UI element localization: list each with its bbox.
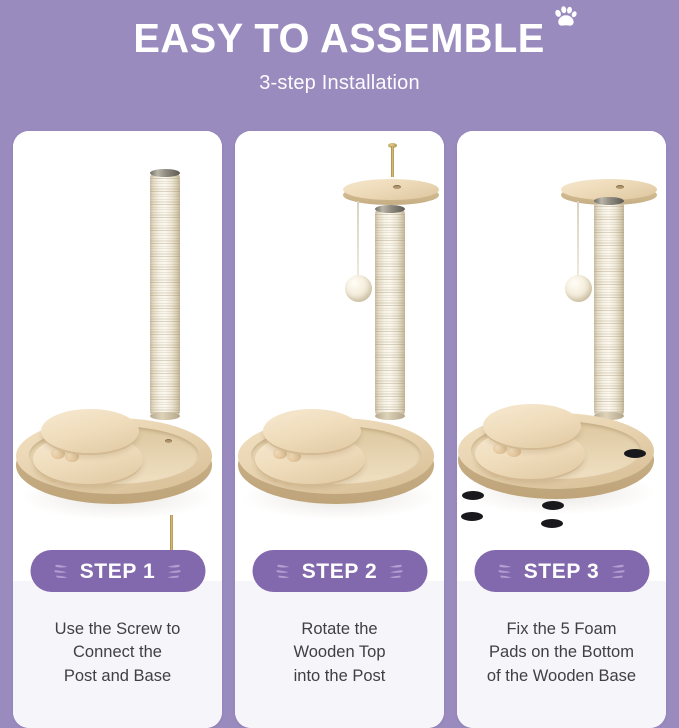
top-disc-screw-hole xyxy=(393,185,401,189)
claw-marks-icon-left xyxy=(497,561,514,581)
track-ball-4 xyxy=(51,448,65,459)
page-subtitle: 3-step Installation xyxy=(0,73,679,93)
foam-pad-5 xyxy=(541,519,563,528)
step-caption-1: Use the Screw to Connect the Post and Ba… xyxy=(13,618,222,688)
step-card-1[interactable]: STEP 1 Use the Screw to Connect the Post… xyxy=(13,131,222,728)
foam-pad-3 xyxy=(461,512,483,521)
step-badge-label-3: STEP 3 xyxy=(524,561,600,582)
foam-pad-4 xyxy=(542,501,564,510)
sisal-scratching-post xyxy=(150,173,180,416)
step-badge-3: STEP 3 xyxy=(474,550,649,592)
wooden-base-with-track-balls xyxy=(15,386,220,521)
track-ball-4 xyxy=(493,443,507,454)
post-top-cap xyxy=(594,197,624,205)
exploded-parts-illustration xyxy=(13,131,222,581)
turntable-upper xyxy=(483,404,581,448)
title-row: EASY TO ASSEMBLE xyxy=(127,18,551,59)
paw-print-icon xyxy=(552,4,578,30)
toy-string xyxy=(577,201,579,279)
screw-shaft xyxy=(391,146,394,177)
step-badge-label-2: STEP 2 xyxy=(302,561,378,582)
wooden-base-with-track-balls xyxy=(237,386,442,521)
sisal-scratching-post xyxy=(375,209,405,416)
turntable-upper xyxy=(41,409,139,453)
top-disc-face xyxy=(343,179,439,200)
steps-card-row: STEP 1 Use the Screw to Connect the Post… xyxy=(13,131,666,728)
post-top-cap xyxy=(150,169,180,177)
claw-marks-icon-left xyxy=(275,561,292,581)
claw-marks-icon-right xyxy=(609,561,626,581)
step-card-3[interactable]: STEP 3 Fix the 5 Foam Pads on the Bottom… xyxy=(457,131,666,728)
infographic-root: EASY TO ASSEMBLE 3-step Installation xyxy=(0,0,679,728)
step-caption-2: Rotate the Wooden Top into the Post xyxy=(235,618,444,688)
step-card-2[interactable]: STEP 2 Rotate the Wooden Top into the Po… xyxy=(235,131,444,728)
foam-pad-2 xyxy=(462,491,484,500)
claw-marks-icon-right xyxy=(165,561,182,581)
step-badge-2: STEP 2 xyxy=(252,550,427,592)
track-ball-5 xyxy=(507,446,521,457)
track-ball-5 xyxy=(65,451,79,462)
claw-marks-icon-left xyxy=(53,561,70,581)
claw-marks-icon-right xyxy=(387,561,404,581)
foam-pad-1 xyxy=(624,449,646,458)
track-ball-5 xyxy=(287,451,301,462)
pompom-ball xyxy=(565,275,592,302)
assembled-tower-with-foam-pads-illustration xyxy=(457,131,666,581)
pompom-ball xyxy=(345,275,372,302)
page-title: EASY TO ASSEMBLE xyxy=(134,18,545,59)
base-screw-hole xyxy=(165,439,172,443)
track-ball-4 xyxy=(273,448,287,459)
post-top-cap xyxy=(375,205,405,213)
attaching-top-illustration xyxy=(235,131,444,581)
step-caption-3: Fix the 5 Foam Pads on the Bottom of the… xyxy=(457,618,666,688)
header-banner: EASY TO ASSEMBLE 3-step Installation xyxy=(0,0,679,126)
step-badge-1: STEP 1 xyxy=(30,550,205,592)
step-badge-label-1: STEP 1 xyxy=(80,561,156,582)
gold-screw xyxy=(385,143,399,179)
turntable-upper xyxy=(263,409,361,453)
top-disc-screw-hole xyxy=(616,185,624,189)
toy-string xyxy=(357,201,359,279)
